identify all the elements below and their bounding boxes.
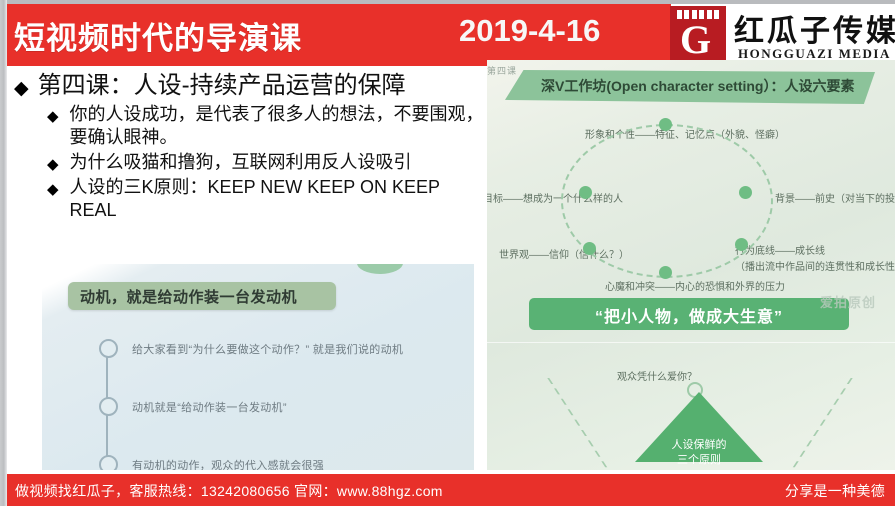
heading-row: ◆ 第四课：人设-持续产品运营的保障 <box>14 72 484 101</box>
timeline-node <box>99 339 118 358</box>
list-item: ◆ 人设的三K原则：KEEP NEW KEEP ON KEEP REAL <box>47 176 484 222</box>
photo-right-band: “把小人物，做成大生意” <box>529 298 849 330</box>
photo-right-ribbon: 深V工作坊(Open character setting）：人设六要素 <box>505 70 875 104</box>
diagram-node <box>739 186 752 199</box>
list-item: ◆ 你的人设成功，是代表了很多人的想法，不要围观，要确认眼神。 <box>47 103 484 149</box>
logo-name-cn: 红瓜子传媒 <box>734 6 895 50</box>
photo-right-divider <box>487 342 895 343</box>
logo-letter-box: G <box>680 22 716 60</box>
footer-slogan: 分享是一种美德 <box>785 481 885 501</box>
bullet-list: ◆ 第四课：人设-持续产品运营的保障 ◆ 你的人设成功，是代表了很多人的想法，不… <box>14 72 484 222</box>
photo-left-title-bar: 动机，就是给动作装一台发动机 <box>68 282 336 310</box>
page-title: 短视频时代的导演课 <box>14 13 302 58</box>
film-strip-icon: G <box>670 6 726 66</box>
triangle-label-line1: 人设保鲜的 <box>639 438 759 453</box>
diagram-node <box>659 266 672 279</box>
brand-logo: G 红瓜子传媒 HONGGUAZI MEDIA <box>662 4 895 68</box>
diagram-node <box>583 242 596 255</box>
list-item: ◆ 为什么吸猫和撸狗，互联网利用反人设吸引 <box>47 151 484 174</box>
diagram-node <box>659 118 672 131</box>
list-item-label: 人设的三K原则：KEEP NEW KEEP ON KEEP REAL <box>70 176 484 222</box>
diagram-label-right-upper: 背景——前史（对当下的投射） <box>775 190 895 205</box>
header-date: 2019-4-16 <box>459 13 600 49</box>
diagram-node <box>579 186 592 199</box>
photo-right-band-text: “把小人物，做成大生意” <box>529 303 849 327</box>
triangle-label: 人设保鲜的 三个原则 <box>639 438 759 468</box>
diagram-node <box>735 238 748 251</box>
timeline-item-label: 有动机的动作，观众的代入感就会很强 <box>132 457 324 470</box>
timeline-node <box>99 455 118 470</box>
triangle-label-line2: 三个原则 <box>639 453 759 468</box>
footer-contact-text: 做视频找红瓜子，客服热线：13242080656 官网：www.88hgz.co… <box>15 481 443 501</box>
list-item-label: 为什么吸猫和撸狗，互联网利用反人设吸引 <box>70 151 412 174</box>
window-left-rail <box>0 0 7 506</box>
diagram-label-bottom: 心魔和冲突——内心的恐惧和外界的压力 <box>605 278 785 293</box>
diamond-bullet-icon: ◆ <box>47 109 59 124</box>
sub-bullet-list: ◆ 你的人设成功，是代表了很多人的想法，不要围观，要确认眼神。 ◆ 为什么吸猫和… <box>47 103 484 222</box>
decorative-blob <box>357 264 403 274</box>
diamond-bullet-icon: ◆ <box>47 182 59 197</box>
slide-root: 短视频时代的导演课 2019-4-16 G 红瓜子传媒 HONGGUAZI ME… <box>0 0 895 506</box>
diamond-bullet-icon: ◆ <box>47 157 59 172</box>
photo-left: 动机，就是给动作装一台发动机 给大家看到“为什么要做这个动作？” 就是我们说的动… <box>42 264 474 470</box>
heading-text: 第四课：人设-持续产品运营的保障 <box>38 72 406 101</box>
timeline-node <box>99 397 118 416</box>
photo-left-title: 动机，就是给动作装一台发动机 <box>80 286 297 307</box>
watermark: 爱拍原创 <box>820 292 876 311</box>
timeline-item-label: 给大家看到“为什么要做这个动作？” 就是我们说的动机 <box>132 341 403 357</box>
slide-footer: 做视频找红瓜子，客服热线：13242080656 官网：www.88hgz.co… <box>7 474 895 506</box>
diagram-label-right-lower-note: （播出流中作品间的连贯性和成长性） <box>735 258 895 273</box>
photo-right-corner-mark: 第四课 <box>487 64 517 77</box>
diagram-dashed-circle <box>561 124 773 278</box>
slide-header: 短视频时代的导演课 2019-4-16 G 红瓜子传媒 HONGGUAZI ME… <box>7 4 895 66</box>
logo-letter-g: G <box>680 22 711 58</box>
list-item-label: 你的人设成功，是代表了很多人的想法，不要围观，要确认眼神。 <box>70 103 484 149</box>
photo-left-inner: 动机，就是给动作装一台发动机 给大家看到“为什么要做这个动作？” 就是我们说的动… <box>60 276 474 470</box>
photo-right: 第四课 深V工作坊(Open character setting）：人设六要素 … <box>487 60 895 470</box>
diamond-bullet-icon: ◆ <box>14 79 29 98</box>
photo-right-ribbon-title: 深V工作坊(Open character setting）：人设六要素 <box>541 76 855 96</box>
timeline-item-label: 动机就是“给动作装一台发动机” <box>132 399 287 415</box>
